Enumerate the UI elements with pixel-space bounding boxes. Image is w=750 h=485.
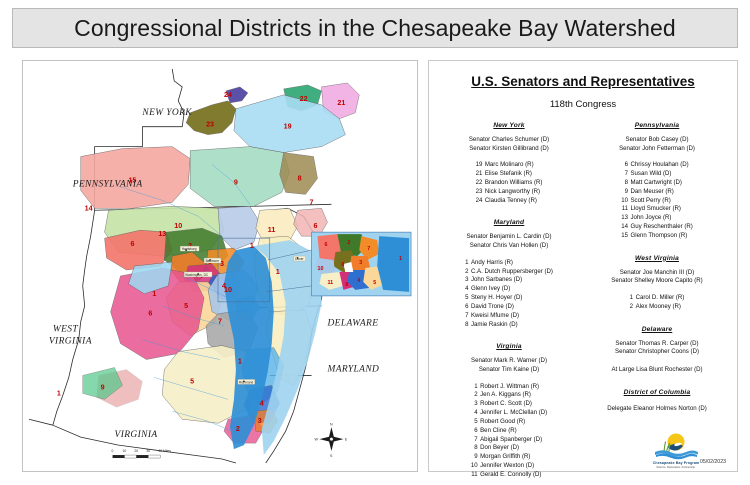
state-heading: Virginia xyxy=(439,343,579,350)
senator-entry: Senator Charles Schumer (D) xyxy=(439,136,579,145)
svg-text:1: 1 xyxy=(250,242,254,250)
senator-entry: Senator Mark R. Warner (D) xyxy=(439,357,579,366)
representative-entry: 10Scott Perry (R) xyxy=(621,197,693,206)
panel-subtitle: 118th Congress xyxy=(429,99,737,110)
senator-entry: Senator Bob Casey (D) xyxy=(587,136,727,145)
svg-text:W: W xyxy=(315,438,319,442)
panel-title: U.S. Senators and Representatives xyxy=(429,74,737,89)
representative-name: Brandon Williams (R) xyxy=(485,179,543,188)
representative-entry: 10Jennifer Wexton (D) xyxy=(471,462,547,471)
svg-text:1: 1 xyxy=(399,256,402,262)
representative-entry: 6Ben Cline (R) xyxy=(471,427,547,436)
representative-entry: 2Jen A. Kiggans (R) xyxy=(471,391,547,400)
representative-list: 1Robert J. Wittman (R)2Jen A. Kiggans (R… xyxy=(471,383,547,480)
at-large-entry: At Large Lisa Blunt Rochester (D) xyxy=(587,366,727,375)
svg-text:1: 1 xyxy=(276,268,280,276)
district-number: 23 xyxy=(476,188,485,197)
svg-text:10: 10 xyxy=(318,266,324,272)
representative-entry: 3John Sarbanes (D) xyxy=(465,276,553,285)
district-number: 8 xyxy=(471,444,480,453)
representative-name: Claudia Tenney (R) xyxy=(485,197,543,206)
representative-entry: 13John Joyce (R) xyxy=(621,214,693,223)
page-title: Congressional Districts in the Chesapeak… xyxy=(74,15,676,42)
senator-list: Senator Mark R. Warner (D)Senator Tim Ka… xyxy=(439,357,579,374)
map-panel[interactable]: 6 2 7 8 3 10 11 8 4 5 1 xyxy=(22,60,418,472)
representative-list: 1Carol D. Miller (R)2Alex Mooney (R) xyxy=(630,294,685,312)
representative-name: Jamie Raskin (D) xyxy=(471,321,553,330)
district-number: 11 xyxy=(471,471,480,480)
date-stamp: 05/02/2023 xyxy=(700,459,726,465)
state-block-west-virginia: West VirginiaSenator Joe Manchin III (D)… xyxy=(587,255,727,312)
state-block-new-york: New YorkSenator Charles Schumer (D)Senat… xyxy=(439,122,579,205)
senator-entry: Senator Benjamin L. Cardin (D) xyxy=(439,233,579,242)
representative-name: Nick Langworthy (R) xyxy=(485,188,543,197)
representative-entry: 15Glenn Thompson (R) xyxy=(621,232,693,241)
representative-entry: 24Claudia Tenney (R) xyxy=(476,197,543,206)
svg-text:14: 14 xyxy=(85,204,93,212)
district-number: 5 xyxy=(471,418,480,427)
label-virginia: VIRGINIA xyxy=(115,430,158,440)
district-number: 15 xyxy=(621,232,630,241)
representative-entry: 4Glenn Ivey (D) xyxy=(465,285,553,294)
representative-entry: 1Carol D. Miller (R) xyxy=(630,294,685,303)
representative-name: Kweisi Mfume (D) xyxy=(471,312,553,321)
representative-entry: 3Robert C. Scott (D) xyxy=(471,400,547,409)
representative-entry: 7Susan Wild (D) xyxy=(621,170,693,179)
svg-text:1: 1 xyxy=(152,290,156,298)
legislators-panel: U.S. Senators and Representatives 118th … xyxy=(428,60,738,472)
legislators-column-left: New YorkSenator Charles Schumer (D)Senat… xyxy=(435,122,583,485)
state-heading: Delaware xyxy=(587,326,727,333)
representative-entry: 7Abigail Spanberger (D) xyxy=(471,436,547,445)
district-number: 14 xyxy=(621,223,630,232)
svg-text:4: 4 xyxy=(260,399,264,407)
svg-text:Washington, DC: Washington, DC xyxy=(185,273,209,277)
svg-text:23: 23 xyxy=(206,121,214,129)
senator-entry: Senator Kirsten Gillibrand (D) xyxy=(439,145,579,154)
district-number: 7 xyxy=(471,436,480,445)
representative-name: Morgan Griffith (R) xyxy=(480,453,547,462)
representative-name: Dan Meuser (R) xyxy=(630,188,692,197)
district-number: 8 xyxy=(621,179,630,188)
representative-name: Don Beyer (D) xyxy=(480,444,547,453)
label-pennsylvania: PENNSYLVANIA xyxy=(72,179,143,189)
representative-name: Susan Wild (D) xyxy=(630,170,692,179)
representative-name: Alex Mooney (R) xyxy=(636,303,685,312)
svg-text:Richmond: Richmond xyxy=(239,380,254,384)
svg-text:11: 11 xyxy=(327,280,333,286)
svg-text:20: 20 xyxy=(134,449,138,453)
representative-name: John Sarbanes (D) xyxy=(471,276,553,285)
representative-name: Scott Perry (R) xyxy=(630,197,692,206)
senator-entry: Senator Tim Kaine (D) xyxy=(439,366,579,375)
at-large-entry: Delegate Eleanor Holmes Norton (D) xyxy=(587,405,727,414)
svg-text:10: 10 xyxy=(174,222,182,230)
representative-name: Andy Harris (R) xyxy=(471,259,553,268)
svg-text:0: 0 xyxy=(112,449,114,453)
state-block-maryland: MarylandSenator Benjamin L. Cardin (D)Se… xyxy=(439,219,579,329)
svg-text:2: 2 xyxy=(236,425,240,433)
svg-text:5: 5 xyxy=(184,302,188,310)
logo-icon xyxy=(648,430,704,460)
svg-text:40 Miles: 40 Miles xyxy=(158,449,171,453)
representative-entry: 5Steny H. Hoyer (D) xyxy=(465,294,553,303)
representative-name: David Trone (D) xyxy=(471,303,553,312)
senator-entry: Senator Shelley Moore Capito (R) xyxy=(587,277,727,286)
svg-text:VIRGINIA: VIRGINIA xyxy=(49,337,92,347)
representative-name: Lloyd Smucker (R) xyxy=(630,205,692,214)
svg-text:21: 21 xyxy=(337,99,345,107)
district-number: 22 xyxy=(476,179,485,188)
representative-entry: 11Lloyd Smucker (R) xyxy=(621,205,693,214)
svg-text:1: 1 xyxy=(238,358,242,366)
representative-name: Glenn Ivey (D) xyxy=(471,285,553,294)
senator-entry: Senator Joe Manchin III (D) xyxy=(587,269,727,278)
representative-entry: 6David Trone (D) xyxy=(465,303,553,312)
representative-entry: 23Nick Langworthy (R) xyxy=(476,188,543,197)
title-banner: Congressional Districts in the Chesapeak… xyxy=(12,8,738,48)
state-block-district-of-columbia: District of ColumbiaDelegate Eleanor Hol… xyxy=(587,389,727,414)
svg-text:6: 6 xyxy=(314,222,318,230)
representative-name: Ben Cline (R) xyxy=(480,427,547,436)
label-new-york: NEW YORK xyxy=(141,108,192,118)
svg-text:6: 6 xyxy=(148,310,152,318)
state-block-virginia: VirginiaSenator Mark R. Warner (D)Senato… xyxy=(439,343,579,479)
svg-text:4: 4 xyxy=(222,282,226,290)
svg-text:6: 6 xyxy=(130,240,134,248)
svg-text:11: 11 xyxy=(268,226,276,234)
district-number: 19 xyxy=(476,161,485,170)
district-number: 3 xyxy=(471,400,480,409)
state-heading: New York xyxy=(439,122,579,129)
svg-text:4: 4 xyxy=(357,278,360,284)
district-number: 6 xyxy=(471,427,480,436)
representative-entry: 5Robert Good (R) xyxy=(471,418,547,427)
district-number: 1 xyxy=(471,383,480,392)
senator-list: Senator Bob Casey (D)Senator John Fetter… xyxy=(587,136,727,153)
representative-entry: 8Matt Cartwright (D) xyxy=(621,179,693,188)
district-number: 13 xyxy=(621,214,630,223)
district-number: 2 xyxy=(471,391,480,400)
svg-text:7: 7 xyxy=(310,198,314,206)
representative-entry: 14Guy Reschenthaler (R) xyxy=(621,223,693,232)
district-number: 24 xyxy=(476,197,485,206)
district-number: 4 xyxy=(471,409,480,418)
representative-name: Robert J. Wittman (R) xyxy=(480,383,547,392)
svg-text:7: 7 xyxy=(367,246,370,252)
svg-text:Baltimore: Baltimore xyxy=(206,259,220,263)
chesapeake-bay-program-logo: Chesapeake Bay Program Science. Restorat… xyxy=(645,430,707,474)
svg-text:19: 19 xyxy=(284,123,292,131)
representative-entry: 19Marc Molinaro (R) xyxy=(476,161,543,170)
district-number: 7 xyxy=(621,170,630,179)
senator-entry: Senator Thomas R. Carper (D) xyxy=(587,340,727,349)
representative-entry: 2Alex Mooney (R) xyxy=(630,303,685,312)
district-number: 10 xyxy=(621,197,630,206)
representative-name: Jennifer L. McClellan (D) xyxy=(480,409,547,418)
representative-list: 1Andy Harris (R)2C.A. Dutch Ruppersberge… xyxy=(465,259,553,330)
svg-text:5: 5 xyxy=(190,377,194,385)
senator-list: Senator Joe Manchin III (D)Senator Shell… xyxy=(587,269,727,286)
district-number: 9 xyxy=(621,188,630,197)
representative-name: C.A. Dutch Ruppersberger (D) xyxy=(471,268,553,277)
representative-entry: 4Jennifer L. McClellan (D) xyxy=(471,409,547,418)
representative-entry: 11Gerald E. Connolly (D) xyxy=(471,471,547,480)
representative-entry: 22Brandon Williams (R) xyxy=(476,179,543,188)
senator-entry: Senator Christopher Coons (D) xyxy=(587,348,727,357)
logo-tagline: Science. Restoration. Partnership. xyxy=(645,466,707,469)
state-block-delaware: DelawareSenator Thomas R. Carper (D)Sena… xyxy=(587,326,727,375)
state-heading: Maryland xyxy=(439,219,579,226)
representative-entry: 6Chrissy Houlahan (D) xyxy=(621,161,693,170)
district-number: 11 xyxy=(621,205,630,214)
representative-name: Jen A. Kiggans (R) xyxy=(480,391,547,400)
representative-name: Chrissy Houlahan (D) xyxy=(630,161,692,170)
svg-text:10: 10 xyxy=(122,449,126,453)
representative-entry: 7Kweisi Mfume (D) xyxy=(465,312,553,321)
representative-name: Robert Good (R) xyxy=(480,418,547,427)
svg-text:Harrisburg: Harrisburg xyxy=(182,247,197,251)
senator-list: Senator Thomas R. Carper (D)Senator Chri… xyxy=(587,340,727,357)
state-heading: District of Columbia xyxy=(587,389,727,396)
watershed-map[interactable]: 6 2 7 8 3 10 11 8 4 5 1 xyxy=(23,61,417,471)
svg-text:7: 7 xyxy=(218,318,222,326)
senator-entry: Senator Chris Van Hollen (D) xyxy=(439,242,579,251)
representative-name: Glenn Thompson (R) xyxy=(630,232,692,241)
representative-name: John Joyce (R) xyxy=(630,214,692,223)
svg-text:8: 8 xyxy=(298,174,302,182)
senator-list: Senator Charles Schumer (D)Senator Kirst… xyxy=(439,136,579,153)
representative-entry: 1Robert J. Wittman (R) xyxy=(471,383,547,392)
label-west-virginia: WEST xyxy=(53,325,79,335)
senator-list: Senator Benjamin L. Cardin (D)Senator Ch… xyxy=(439,233,579,250)
district-number: 10 xyxy=(471,462,480,471)
senator-entry: Senator John Fetterman (D) xyxy=(587,145,727,154)
state-heading: West Virginia xyxy=(587,255,727,262)
svg-text:2: 2 xyxy=(347,240,350,246)
state-block-pennsylvania: PennsylvaniaSenator Bob Casey (D)Senator… xyxy=(587,122,727,241)
representative-entry: 8Don Beyer (D) xyxy=(471,444,547,453)
label-maryland: MARYLAND xyxy=(326,364,379,374)
representative-name: Matt Cartwright (D) xyxy=(630,179,692,188)
map-poster: Congressional Districts in the Chesapeak… xyxy=(0,0,750,485)
representative-entry: 9Morgan Griffith (R) xyxy=(471,453,547,462)
svg-text:6: 6 xyxy=(324,242,327,248)
representative-entry: 2C.A. Dutch Ruppersberger (D) xyxy=(465,268,553,277)
representative-list: 19Marc Molinaro (R)21Elise Stefanik (R)2… xyxy=(476,161,543,205)
svg-text:5: 5 xyxy=(373,280,376,286)
district-number: 21 xyxy=(476,170,485,179)
svg-text:9: 9 xyxy=(101,383,105,391)
representative-list: 6Chrissy Houlahan (D)7Susan Wild (D)8Mat… xyxy=(621,161,693,240)
representative-entry: 1Andy Harris (R) xyxy=(465,259,553,268)
representative-name: Carol D. Miller (R) xyxy=(636,294,685,303)
svg-text:30: 30 xyxy=(146,449,150,453)
representative-name: Robert C. Scott (D) xyxy=(480,400,547,409)
svg-text:N: N xyxy=(330,423,333,427)
svg-text:22: 22 xyxy=(300,95,308,103)
representative-name: Jennifer Wexton (D) xyxy=(480,462,547,471)
representative-name: Steny H. Hoyer (D) xyxy=(471,294,553,303)
svg-text:8: 8 xyxy=(345,282,348,288)
svg-text:24: 24 xyxy=(224,91,232,99)
svg-text:3: 3 xyxy=(258,417,262,425)
district-number: 6 xyxy=(621,161,630,170)
state-heading: Pennsylvania xyxy=(587,122,727,129)
logo-name: Chesapeake Bay Program xyxy=(645,461,707,465)
representative-name: Guy Reschenthaler (R) xyxy=(630,223,692,232)
representative-entry: 8Jamie Raskin (D) xyxy=(465,321,553,330)
representative-entry: 21Elise Stefanik (R) xyxy=(476,170,543,179)
district-number: 9 xyxy=(471,453,480,462)
svg-text:1: 1 xyxy=(57,389,61,397)
representative-name: Elise Stefanik (R) xyxy=(485,170,543,179)
representative-name: Marc Molinaro (R) xyxy=(485,161,543,170)
representative-entry: 9Dan Meuser (R) xyxy=(621,188,693,197)
svg-text:8: 8 xyxy=(341,262,344,268)
svg-text:13: 13 xyxy=(158,230,166,238)
svg-text:3: 3 xyxy=(359,260,362,266)
representative-name: Gerald E. Connolly (D) xyxy=(480,471,547,480)
svg-text:Dover: Dover xyxy=(295,257,303,261)
representative-name: Abigail Spanberger (D) xyxy=(480,436,547,445)
label-delaware: DELAWARE xyxy=(326,319,378,329)
svg-text:9: 9 xyxy=(234,178,238,186)
